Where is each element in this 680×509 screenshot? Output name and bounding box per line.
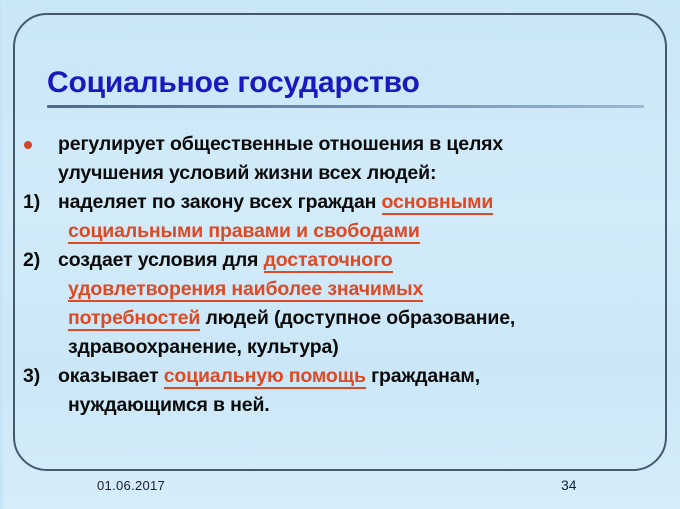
highlight-run: удовлетворения наиболее значимых <box>68 278 423 302</box>
list-item-line: создает условия для достаточного <box>58 249 393 273</box>
text-run: создает условия для <box>58 249 264 271</box>
list-item: 1) наделяет по закону всех граждан основ… <box>0 188 680 217</box>
text-run: нуждающимся в ней. <box>68 394 270 416</box>
list-item-number: 2) <box>23 246 40 275</box>
list-item: 2) создает условия для достаточного <box>0 246 680 275</box>
footer-date: 01.06.2017 <box>97 478 165 493</box>
highlight-run: потребностей <box>68 307 200 331</box>
list-item-number: 3) <box>23 362 40 391</box>
highlight-run: основными <box>382 191 494 215</box>
highlight-run: социальную помощь <box>164 365 366 389</box>
text-run: наделяет по закону всех граждан <box>58 191 382 213</box>
title-block: Социальное государство <box>47 67 647 108</box>
slide-body: регулирует общественные отношения в целя… <box>0 130 680 420</box>
bullet-item: регулирует общественные отношения в целя… <box>0 130 680 159</box>
list-item: 3) оказывает социальную помощь гражданам… <box>0 362 680 391</box>
list-item-continuation: нуждающимся в ней. <box>0 391 680 420</box>
page-title: Социальное государство <box>47 67 647 99</box>
title-underline-rule <box>47 105 644 108</box>
list-item-line: наделяет по закону всех граждан основным… <box>58 191 493 215</box>
text-run: здравоохранение, культура) <box>68 336 339 358</box>
text-run: людей (доступное образование, <box>200 307 515 329</box>
bullet-line-2: улучшения условий жизни всех людей: <box>58 162 436 184</box>
bullet-dot-icon <box>24 141 32 149</box>
list-item-continuation: социальными правами и свободами <box>0 217 680 246</box>
list-item-number: 1) <box>23 188 40 217</box>
list-item-continuation: удовлетворения наиболее значимых <box>0 275 680 304</box>
bullet-item-continuation: улучшения условий жизни всех людей: <box>0 159 680 188</box>
list-item-continuation: здравоохранение, культура) <box>0 333 680 362</box>
footer-page-number: 34 <box>561 477 577 493</box>
bullet-line-1: регулирует общественные отношения в целя… <box>58 133 503 155</box>
text-run: оказывает <box>58 365 164 387</box>
slide-canvas: Социальное государство регулирует общест… <box>0 0 680 509</box>
text-run: гражданам, <box>366 365 480 387</box>
list-item-line: оказывает социальную помощь гражданам, <box>58 365 480 389</box>
list-item-continuation: потребностей людей (доступное образовани… <box>0 304 680 333</box>
highlight-run: достаточного <box>264 249 393 273</box>
highlight-run: социальными правами и свободами <box>68 220 420 244</box>
